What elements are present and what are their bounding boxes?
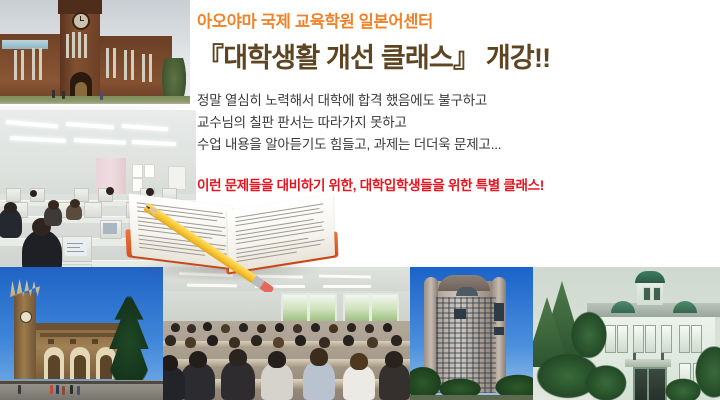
- copper-dome: [635, 271, 665, 283]
- photo-modern-university-highrise: [410, 267, 533, 400]
- photo-campus-tower: [0, 0, 190, 112]
- clock-face-icon: [72, 12, 90, 30]
- body-line-1: 정말 열심히 노력해서 대학에 합격 했음에도 불구하고: [197, 90, 712, 112]
- highlight-callout: 이런 문제들을 대비하기 위한, 대학입학생들을 위한 특별 클래스!: [197, 174, 712, 194]
- hall-roof: [33, 323, 131, 330]
- entrance-canopy: [625, 359, 671, 367]
- main-entrance-door: [633, 367, 667, 400]
- organization-line: 아오야마 국제 교육학원 일본어센터: [197, 12, 712, 33]
- text-content-block: 아오야마 국제 교육학원 일본어센터 『대학생활 개선 클래스』 개강!! 정말…: [197, 12, 712, 194]
- lab-ceiling: [0, 110, 196, 154]
- headline: 『대학생활 개선 클래스』 개강!!: [197, 42, 712, 76]
- clock-tower: [14, 293, 36, 379]
- body-line-3: 수업 내용을 알아듣기도 힘들고, 과제는 더더욱 문제고...: [197, 134, 712, 156]
- photo-historic-white-green-hall: [533, 267, 720, 400]
- clock-face-icon: [20, 311, 32, 323]
- body-line-2: 교수님의 칠판 판서는 따라가지 못하고: [197, 112, 712, 134]
- photo-open-textbook-with-pencil: [124, 186, 340, 292]
- body-paragraph: 정말 열심히 노력해서 대학에 합격 했음에도 불구하고 교수님의 칠판 판서는…: [197, 90, 712, 156]
- promotional-banner: 아오야마 국제 교육학원 일본어센터 『대학생활 개선 클래스』 개강!! 정말…: [0, 0, 720, 400]
